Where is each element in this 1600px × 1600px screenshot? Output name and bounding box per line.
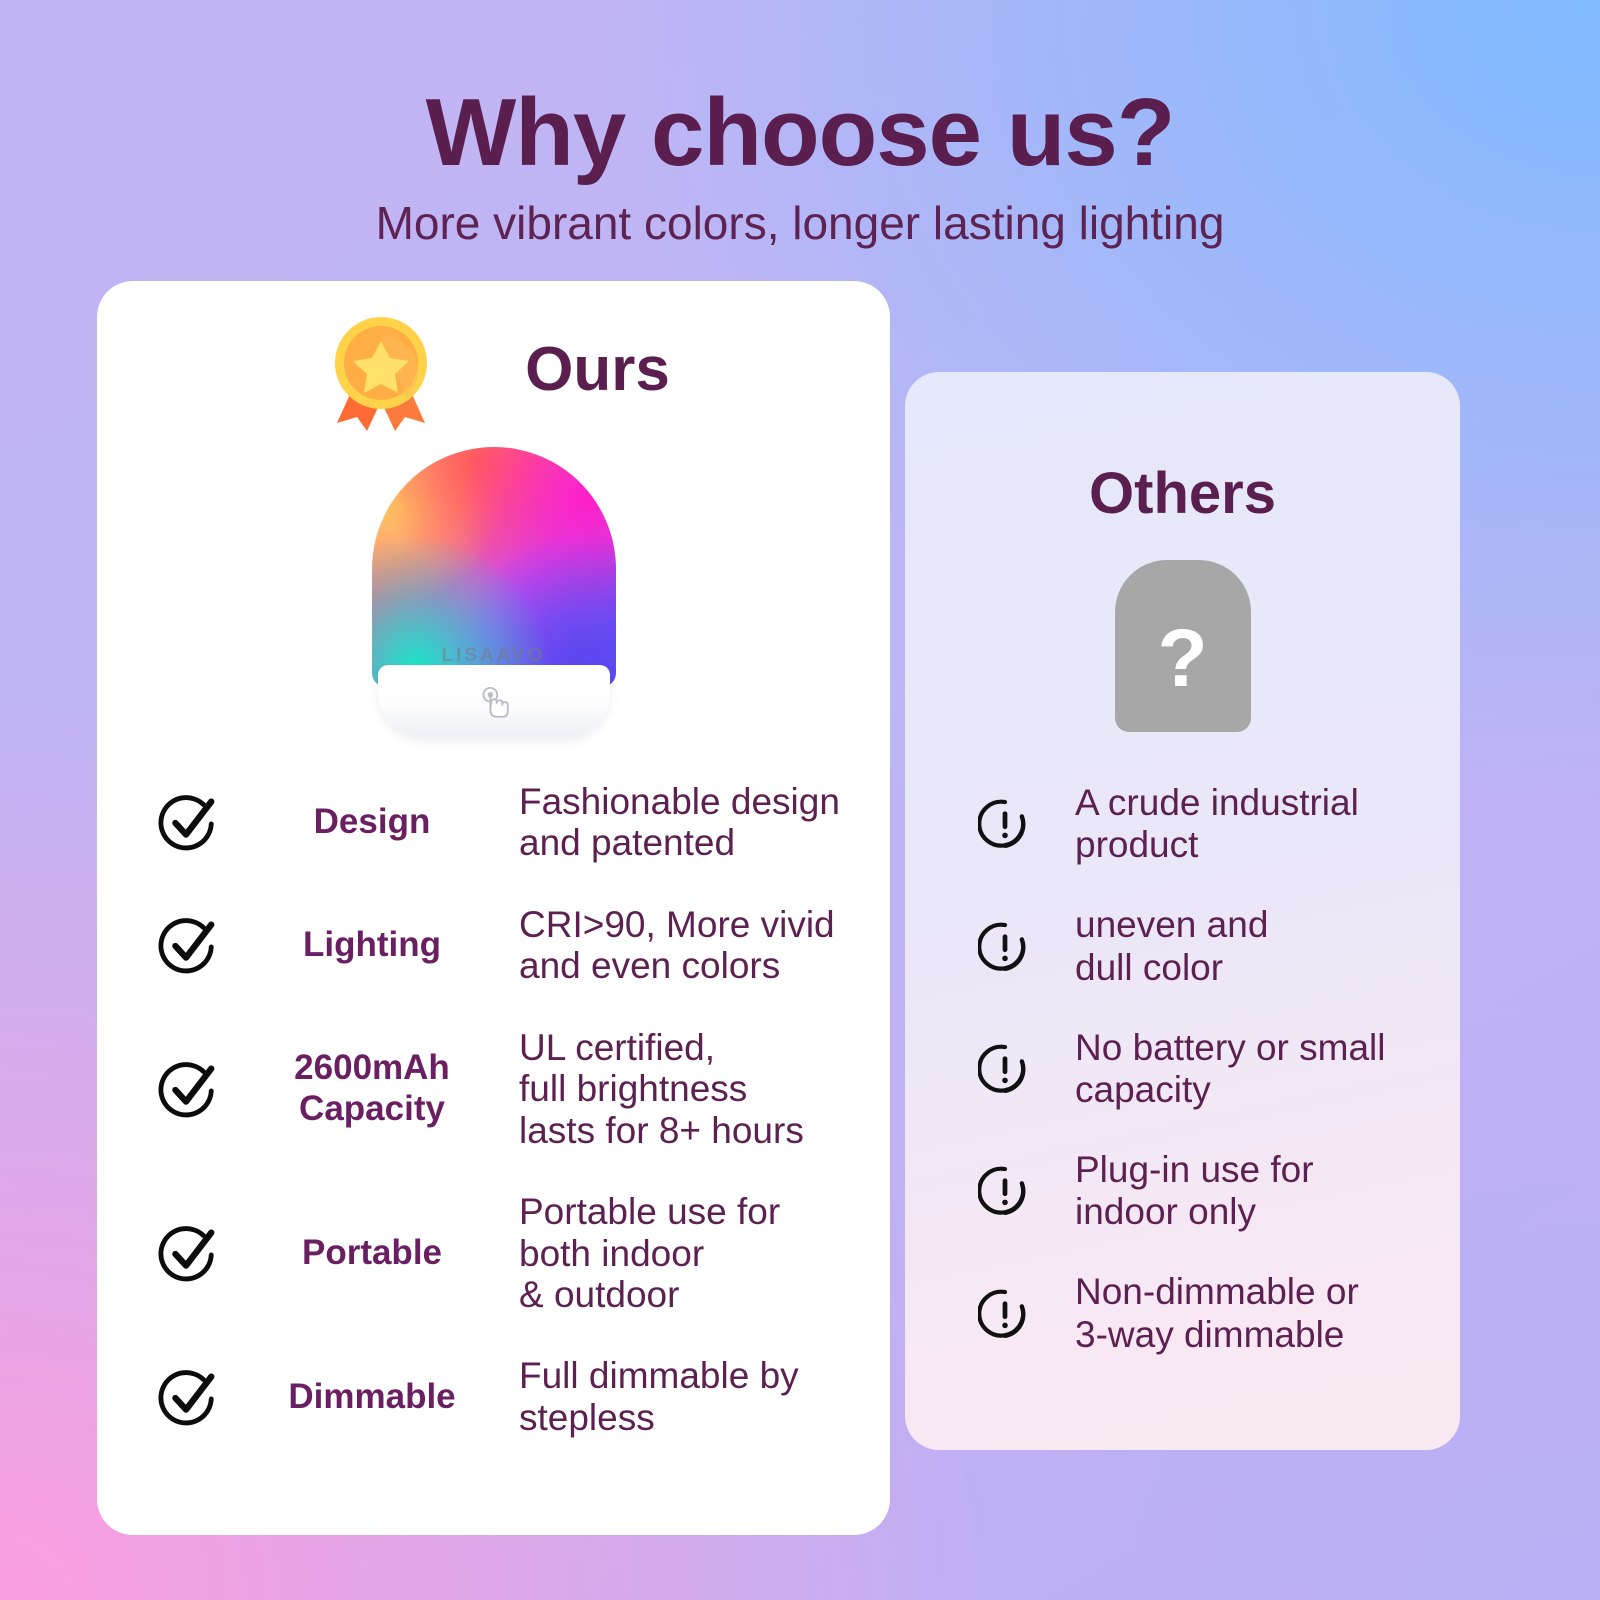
- lisaavo-lamp-image: LISAAVO: [372, 447, 616, 737]
- lamp-base: [378, 665, 610, 737]
- feature-description: Portable use for both indoor & outdoor: [497, 1191, 858, 1315]
- touch-gesture-icon: [472, 681, 516, 725]
- exclamation-circle-icon: [935, 797, 1075, 851]
- others-card: Others ? A crude industrial product: [905, 372, 1460, 1450]
- check-circle-icon: [129, 1366, 247, 1428]
- others-drawback-list: A crude industrial product uneven and du…: [905, 782, 1460, 1356]
- others-placeholder-wrap: ?: [905, 560, 1460, 732]
- list-item-text: Non-dimmable or 3-way dimmable: [1075, 1271, 1434, 1355]
- list-item: Non-dimmable or 3-way dimmable: [935, 1271, 1434, 1355]
- feature-label: Lighting: [247, 925, 497, 966]
- list-item: No battery or small capacity: [935, 1027, 1434, 1111]
- lamp-dome: LISAAVO: [372, 447, 616, 687]
- check-circle-icon: [129, 1222, 247, 1284]
- brand-label: LISAAVO: [372, 645, 616, 667]
- product-image-wrap: LISAAVO: [97, 447, 890, 737]
- table-row: 2600mAh Capacity UL certified, full brig…: [97, 1027, 890, 1151]
- list-item-text: uneven and dull color: [1075, 904, 1434, 988]
- feature-description: CRI>90, More vivid and even colors: [497, 904, 858, 987]
- ours-card: Ours LISAAVO Design: [97, 281, 890, 1535]
- list-item: uneven and dull color: [935, 904, 1434, 988]
- exclamation-circle-icon: [935, 1287, 1075, 1341]
- unknown-product-silhouette-icon: ?: [1115, 560, 1251, 732]
- feature-label: Dimmable: [247, 1377, 497, 1418]
- ours-feature-list: Design Fashionable design and patented L…: [97, 781, 890, 1438]
- feature-label: Portable: [247, 1233, 497, 1274]
- exclamation-circle-icon: [935, 1042, 1075, 1096]
- feature-description: Fashionable design and patented: [497, 781, 858, 864]
- exclamation-circle-icon: [935, 920, 1075, 974]
- check-circle-icon: [129, 914, 247, 976]
- feature-description: UL certified, full brightness lasts for …: [497, 1027, 858, 1151]
- table-row: Design Fashionable design and patented: [97, 781, 890, 864]
- feature-description: Full dimmable by stepless: [497, 1355, 858, 1438]
- table-row: Lighting CRI>90, More vivid and even col…: [97, 904, 890, 987]
- ours-heading: Ours: [525, 334, 670, 405]
- list-item-text: Plug-in use for indoor only: [1075, 1149, 1434, 1233]
- list-item: A crude industrial product: [935, 782, 1434, 866]
- check-circle-icon: [129, 1058, 247, 1120]
- others-heading: Others: [905, 460, 1460, 527]
- list-item-text: A crude industrial product: [1075, 782, 1434, 866]
- list-item: Plug-in use for indoor only: [935, 1149, 1434, 1233]
- table-row: Portable Portable use for both indoor & …: [97, 1191, 890, 1315]
- page-header: Why choose us? More vibrant colors, long…: [0, 0, 1600, 250]
- question-mark-label: ?: [1157, 618, 1207, 700]
- exclamation-circle-icon: [935, 1164, 1075, 1218]
- feature-label: 2600mAh Capacity: [247, 1048, 497, 1129]
- page-title: Why choose us?: [0, 84, 1600, 182]
- check-circle-icon: [129, 791, 247, 853]
- table-row: Dimmable Full dimmable by stepless: [97, 1355, 890, 1438]
- page-subtitle: More vibrant colors, longer lasting ligh…: [0, 196, 1600, 250]
- feature-label: Design: [247, 802, 497, 843]
- ours-header: Ours: [97, 305, 890, 433]
- medal-star-icon: [317, 305, 445, 433]
- list-item-text: No battery or small capacity: [1075, 1027, 1434, 1111]
